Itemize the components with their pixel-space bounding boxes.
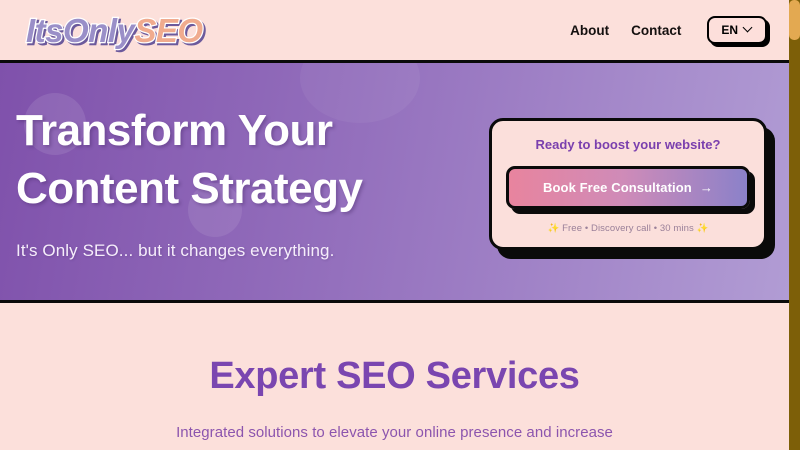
- hero-title-line-two: Content Strategy: [16, 164, 362, 213]
- hero-copy: Transform Your Content Strategy It's Onl…: [0, 102, 480, 260]
- cta-note: ✨ Free • Discovery call • 30 mins ✨: [506, 223, 750, 234]
- nav-link-contact[interactable]: Contact: [631, 23, 681, 38]
- hero-subtitle: It's Only SEO... but it changes everythi…: [16, 241, 480, 261]
- main-navigation: About Contact EN: [570, 16, 767, 44]
- services-subtitle: Integrated solutions to elevate your onl…: [0, 424, 789, 441]
- language-selector-label: EN: [721, 23, 738, 37]
- logo-text-primary: ItsOnly: [26, 12, 134, 49]
- book-consultation-label: Book Free Consultation: [543, 180, 692, 195]
- sparkle-icon-left: ✨: [547, 223, 559, 234]
- cta-card: Ready to boost your website? Book Free C…: [489, 118, 767, 250]
- book-consultation-button[interactable]: Book Free Consultation→: [506, 166, 750, 209]
- cta-heading: Ready to boost your website?: [506, 137, 750, 152]
- nav-link-about[interactable]: About: [570, 23, 609, 38]
- page-viewport: ItsOnlySEO About Contact EN Transform Yo…: [0, 0, 789, 450]
- hero-title: Transform Your Content Strategy: [16, 102, 480, 216]
- services-section: Expert SEO Services Integrated solutions…: [0, 303, 789, 441]
- vertical-scrollbar-thumb[interactable]: [789, 0, 800, 40]
- site-logo[interactable]: ItsOnlySEO: [26, 14, 203, 47]
- hero-section: Transform Your Content Strategy It's Onl…: [0, 60, 789, 303]
- language-selector-button[interactable]: EN: [707, 16, 767, 44]
- chevron-down-icon: [744, 24, 753, 33]
- vertical-scrollbar-track[interactable]: [789, 0, 800, 450]
- logo-text-accent: SEO: [134, 12, 202, 49]
- services-title: Expert SEO Services: [0, 355, 789, 398]
- sparkle-icon-right: ✨: [697, 223, 709, 234]
- arrow-right-icon: →: [700, 180, 713, 195]
- site-header: ItsOnlySEO About Contact EN: [0, 0, 789, 60]
- hero-title-line-one: Transform Your: [16, 106, 333, 155]
- cta-note-text: Free • Discovery call • 30 mins: [559, 223, 696, 234]
